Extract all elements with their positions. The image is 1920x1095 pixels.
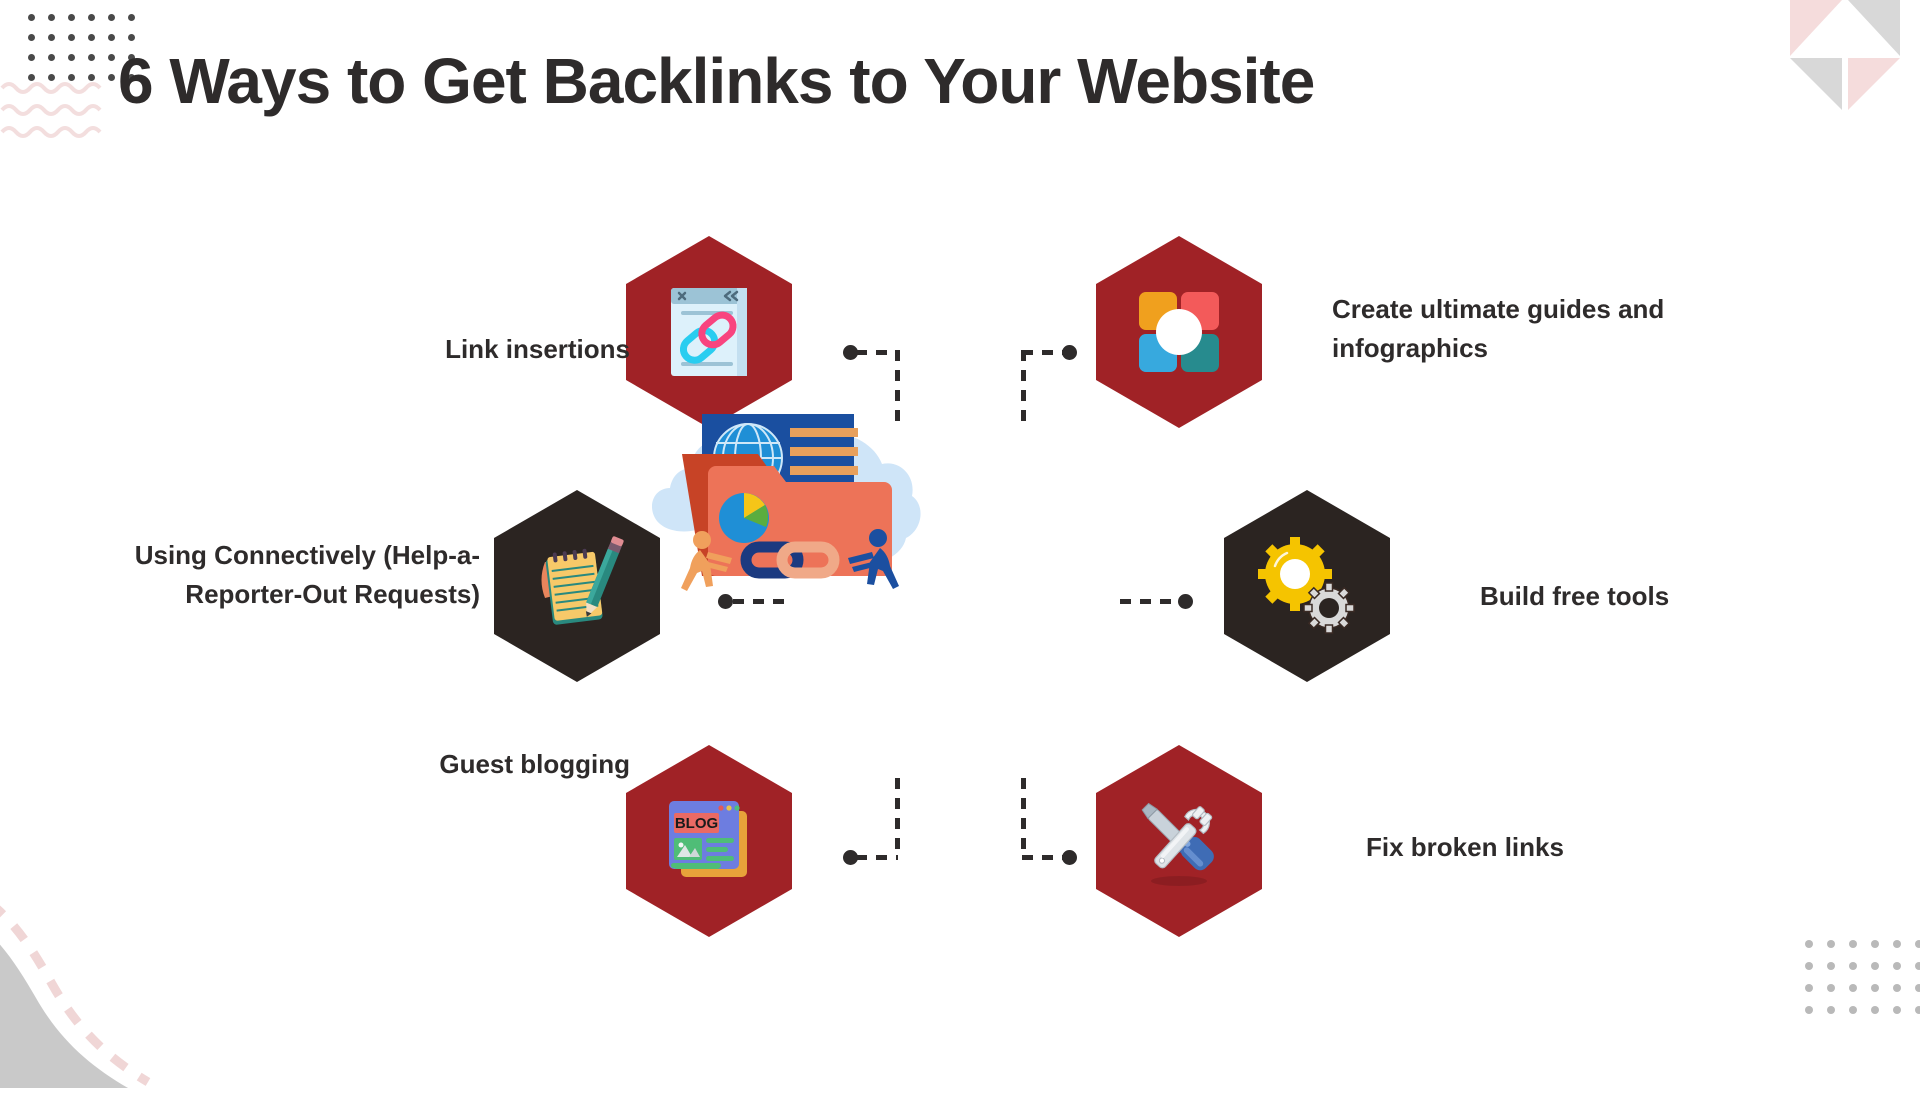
grid-dot [1827, 1006, 1835, 1014]
grid-dot [128, 14, 135, 21]
grid-dot [1893, 962, 1901, 970]
page-title: 6 Ways to Get Backlinks to Your Website [118, 46, 1818, 118]
grid-dot [1849, 962, 1857, 970]
label-create-guides-infographics: Create ultimate guides and infographics [1332, 290, 1802, 368]
blog-window-icon: BLOG [657, 789, 761, 893]
notepad-pencil-icon [525, 534, 629, 638]
grid-dot [1915, 962, 1920, 970]
four-quadrant-infographic-icon [1127, 280, 1231, 384]
blob-decoration-bottom-left [0, 830, 200, 1095]
grid-dot [1827, 984, 1835, 992]
grid-dot [88, 14, 95, 21]
grid-dot [28, 14, 35, 21]
grid-dot [1849, 984, 1857, 992]
label-using-connectively: Using Connectively (Help-a-Reporter-Out … [60, 536, 480, 614]
grid-dot [48, 74, 55, 81]
label-build-free-tools: Build free tools [1480, 577, 1810, 616]
browser-chain-link-icon [657, 280, 761, 384]
label-link-insertions: Link insertions [240, 330, 630, 369]
grid-dot [1805, 940, 1813, 948]
grid-dot [48, 14, 55, 21]
connector-segment-vertical [1021, 778, 1026, 856]
grid-dot [128, 34, 135, 41]
grid-dot [1805, 984, 1813, 992]
grid-dot [1915, 940, 1920, 948]
connector-dot [843, 345, 858, 360]
grid-dot [68, 74, 75, 81]
grid-dot [48, 34, 55, 41]
label-fix-broken-links: Fix broken links [1366, 828, 1726, 867]
connector-segment-horizontal [856, 855, 898, 860]
grid-dot [1805, 1006, 1813, 1014]
grid-dot [28, 54, 35, 61]
wrench-screwdriver-icon [1127, 789, 1231, 893]
hexagon-create-guides-infographics[interactable] [1096, 236, 1262, 428]
grid-dot [1893, 984, 1901, 992]
grid-dot [1893, 940, 1901, 948]
connector-dot [718, 594, 733, 609]
grid-dot [68, 14, 75, 21]
grid-dot [1871, 984, 1879, 992]
connector-segment-horizontal [1120, 599, 1178, 604]
grid-dot [48, 54, 55, 61]
hexagon-build-free-tools[interactable] [1224, 490, 1390, 682]
grid-dot [88, 54, 95, 61]
svg-text:BLOG: BLOG [675, 815, 718, 832]
grid-dot [1805, 962, 1813, 970]
connector-dot [1178, 594, 1193, 609]
grid-dot [1893, 1006, 1901, 1014]
connector-segment-horizontal [1022, 350, 1064, 355]
gears-icon [1255, 534, 1359, 638]
grid-dot [88, 34, 95, 41]
grid-dot [1871, 1006, 1879, 1014]
grid-dot [108, 54, 115, 61]
hexagon-guest-blogging[interactable]: BLOG [626, 745, 792, 937]
connector-dot [1062, 345, 1077, 360]
grid-dot [28, 74, 35, 81]
triangle-top-right [1848, 0, 1900, 56]
grid-dot [88, 74, 95, 81]
hexagon-using-connectively[interactable] [494, 490, 660, 682]
grid-dot [108, 74, 115, 81]
connector-segment-vertical [895, 778, 900, 856]
folder-globe-document-chain-illustration [640, 392, 940, 592]
grid-dot [68, 54, 75, 61]
hexagon-fix-broken-links[interactable] [1096, 745, 1262, 937]
connector-segment-vertical [1021, 350, 1026, 428]
connector-segment-horizontal [1022, 855, 1064, 860]
connector-dot [843, 850, 858, 865]
grid-dot [1827, 940, 1835, 948]
label-guest-blogging: Guest blogging [240, 745, 630, 784]
grid-dot [1871, 940, 1879, 948]
connector-segment-horizontal [733, 599, 793, 604]
triangle-bottom-right [1848, 58, 1900, 110]
connector-segment-horizontal [856, 350, 898, 355]
wavy-lines-decoration [0, 78, 110, 153]
grid-dot [28, 34, 35, 41]
dot-grid-bottom-right [1805, 940, 1920, 1014]
grid-dot [108, 34, 115, 41]
grid-dot [1915, 1006, 1920, 1014]
grid-dot [1871, 962, 1879, 970]
grid-dot [1915, 984, 1920, 992]
grid-dot [108, 14, 115, 21]
grid-dot [1849, 940, 1857, 948]
grid-dot [1849, 1006, 1857, 1014]
grid-dot [68, 34, 75, 41]
connector-dot [1062, 850, 1077, 865]
grid-dot [1827, 962, 1835, 970]
